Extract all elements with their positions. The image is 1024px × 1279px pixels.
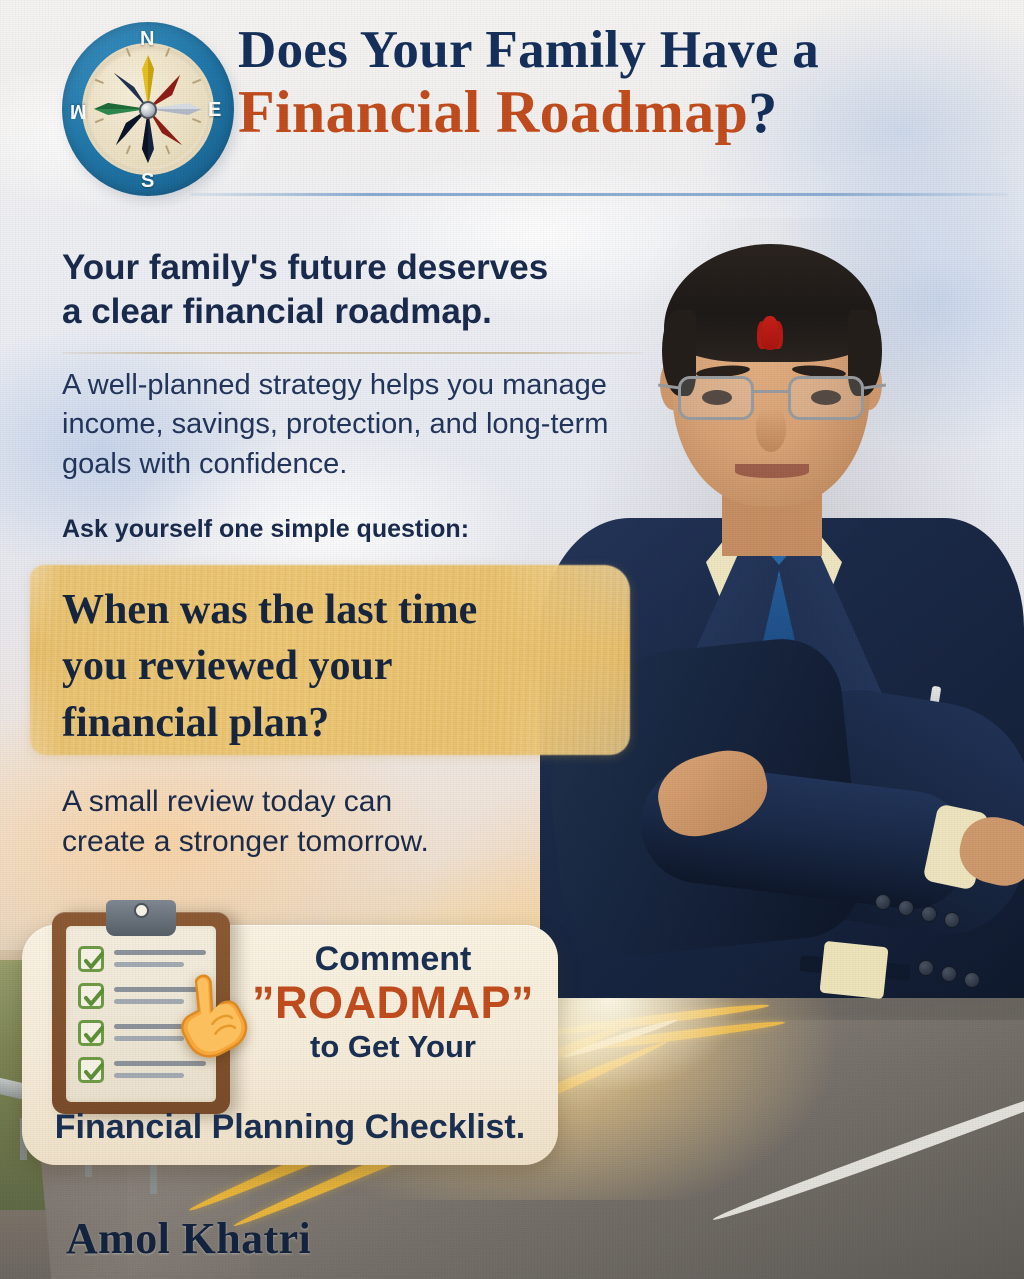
compass-icon: N E S M xyxy=(62,22,238,200)
clipboard-clip-hole xyxy=(134,903,149,918)
question-line-2: you reviewed your xyxy=(62,638,582,694)
closing-line-1: A small review today can xyxy=(62,782,582,822)
sleeve-button xyxy=(875,894,891,910)
content-divider xyxy=(62,352,642,354)
cta-to-get-label: to Get Your xyxy=(236,1028,550,1065)
checkbox-checked-icon xyxy=(78,983,104,1009)
checkbox-checked-icon xyxy=(78,1057,104,1083)
poster-header: N E S M Does Your Family Have a Financia… xyxy=(0,0,1024,210)
headline-line-1: Does Your Family Have a xyxy=(238,22,998,79)
poster-headline: Does Your Family Have a Financial Roadma… xyxy=(238,22,998,144)
sleeve-button xyxy=(941,966,957,982)
mouth xyxy=(735,464,809,478)
checkbox-checked-icon xyxy=(78,946,104,972)
question-line-3: financial plan? xyxy=(62,695,582,751)
headline-keyword: Financial Roadmap xyxy=(238,79,748,145)
glasses-bridge xyxy=(754,390,788,393)
poster-canvas: N E S M Does Your Family Have a Financia… xyxy=(0,0,1024,1279)
compass-label-west: M xyxy=(70,99,87,122)
body-paragraph: A well-planned strategy helps you manage… xyxy=(62,366,662,484)
checklist-line xyxy=(114,1073,184,1078)
headline-line-2: Financial Roadmap? xyxy=(238,81,998,144)
pointing-hand-icon xyxy=(168,972,252,1058)
sleeve-button xyxy=(944,912,960,928)
sleeve-button xyxy=(898,900,914,916)
headline-question-mark: ? xyxy=(748,80,777,145)
compass-label-north: N xyxy=(140,28,154,51)
sleeve-button xyxy=(918,960,934,976)
checklist-line xyxy=(114,950,206,955)
compass-label-south: S xyxy=(141,170,154,193)
lead-line-1: Your family's future deserves xyxy=(62,246,652,290)
tilak-mark xyxy=(761,316,779,350)
cta-comment-label: Comment xyxy=(236,940,550,978)
sleeve-button xyxy=(964,972,980,988)
closing-statement: A small review today can create a strong… xyxy=(62,782,582,862)
checklist-row xyxy=(78,1057,208,1087)
closing-line-2: create a stronger tomorrow. xyxy=(62,822,582,862)
sleeve-button xyxy=(921,906,937,922)
cta-keyword: ”ROADMAP” xyxy=(236,978,550,1028)
lead-line-2: a clear financial roadmap. xyxy=(62,290,652,334)
key-question: When was the last time you reviewed your… xyxy=(62,582,582,751)
cta-text-block: Comment ”ROADMAP” to Get Your xyxy=(236,940,550,1066)
ask-prompt: Ask yourself one simple question: xyxy=(62,515,622,544)
cta-checklist-label: Financial Planning Checklist. xyxy=(22,1108,558,1147)
lead-statement: Your family's future deserves a clear fi… xyxy=(62,246,652,334)
lens-right xyxy=(788,376,864,420)
checkbox-checked-icon xyxy=(78,1020,104,1046)
header-divider xyxy=(190,193,1008,196)
checklist-line xyxy=(114,962,184,967)
checklist-line xyxy=(114,1061,206,1066)
compass-label-east: E xyxy=(208,99,221,122)
question-line-1: When was the last time xyxy=(62,582,582,638)
shirt-hem xyxy=(819,941,888,999)
author-name: Amol Khatri xyxy=(66,1213,311,1264)
compass-hub xyxy=(139,101,157,119)
nose xyxy=(756,408,786,452)
lens-left xyxy=(678,376,754,420)
